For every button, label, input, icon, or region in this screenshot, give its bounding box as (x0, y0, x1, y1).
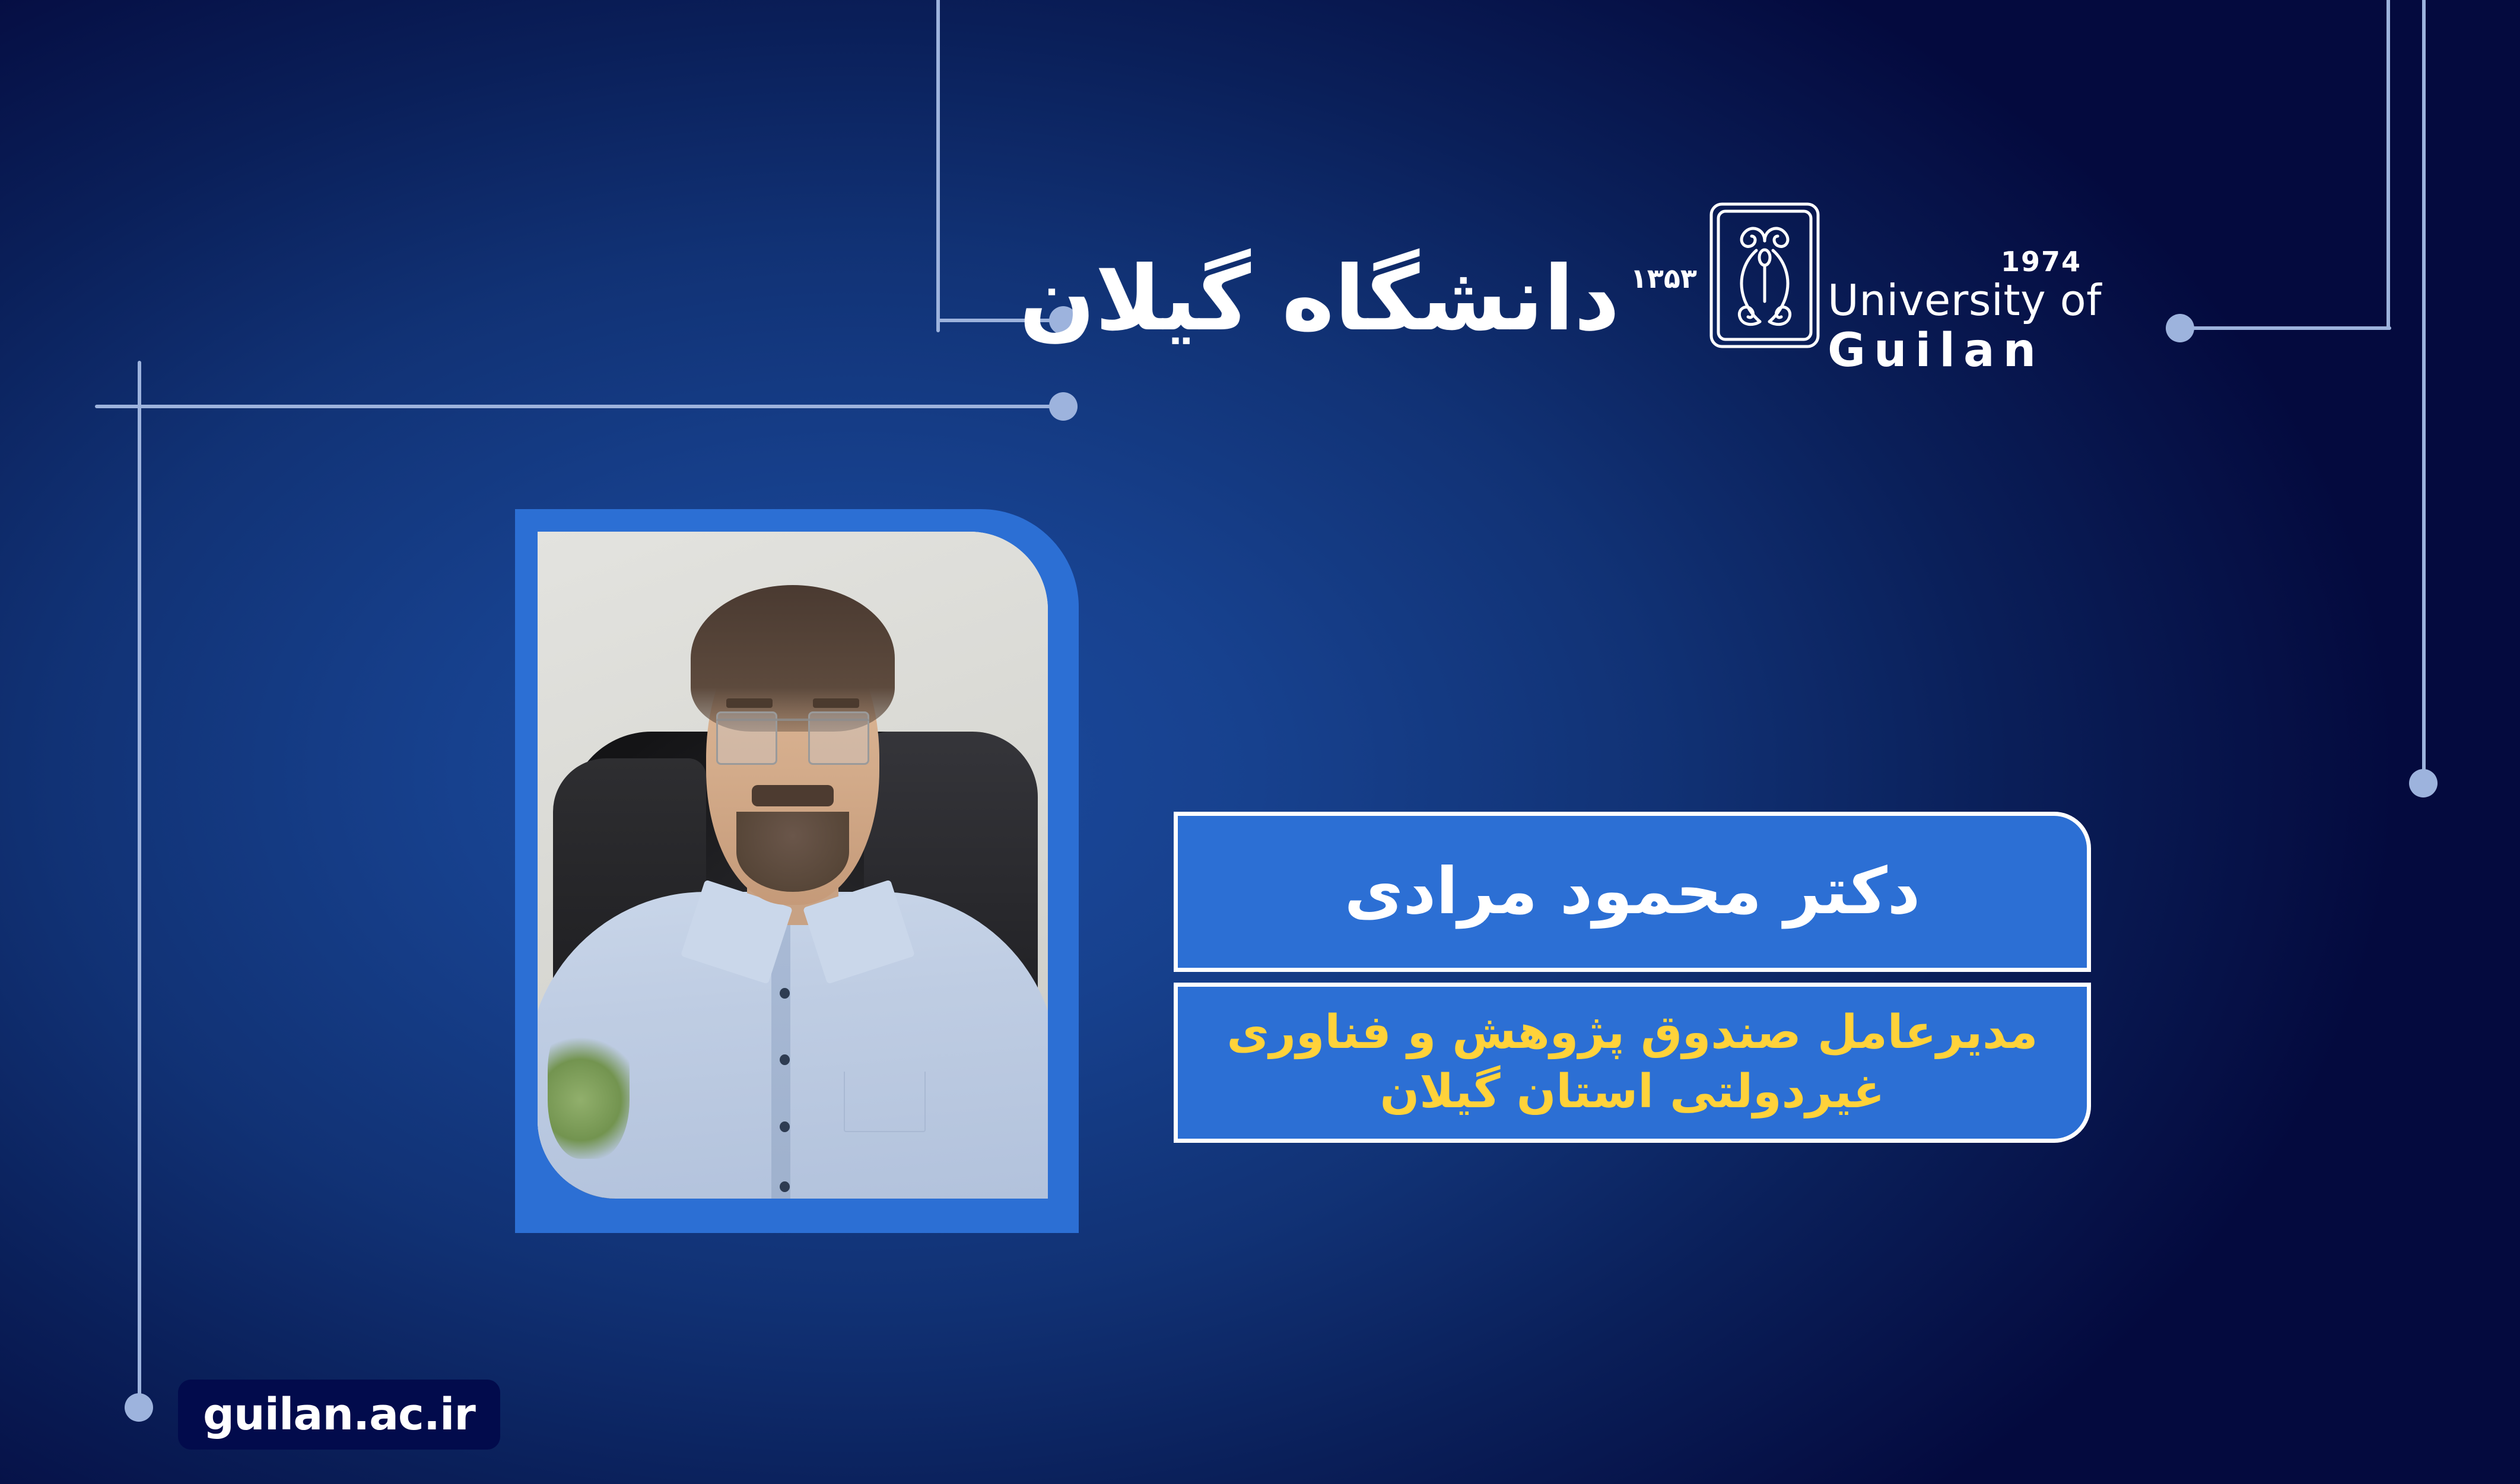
logo-guilan-label: Guilan (1828, 328, 2106, 374)
portrait-image (538, 532, 1048, 1199)
corner-line-top-right-dot (2166, 314, 2194, 342)
corner-line-top-left-vertical (936, 0, 940, 332)
right-vertical-rule (2422, 0, 2426, 780)
logo-english-block: 1974 University of Guilan (1828, 214, 2106, 374)
person-title-line-1: مدیرعامل صندوق پژوهش و فناوری (1227, 1003, 2038, 1063)
portrait-frame (515, 509, 1079, 1233)
announcement-card: 1974 University of Guilan ۱۳۵۳ دانشگاه گ… (0, 0, 2520, 1484)
right-vertical-rule-dot (2409, 769, 2438, 797)
person-name-plate: دکتر محمود مرادی (1174, 812, 2091, 972)
logo-university-of-label: University of (1828, 279, 2106, 322)
guilan-university-emblem-icon (1705, 199, 1824, 351)
website-url-badge[interactable]: guilan.ac.ir (178, 1380, 500, 1450)
website-url-text: guilan.ac.ir (203, 1389, 475, 1440)
logo-gregorian-year: 1974 (2001, 248, 2106, 275)
left-vertical-rule-dot (125, 1393, 153, 1422)
logo-persian-name: دانشگاه گیلان (1019, 255, 1620, 344)
long-horizontal-rule (95, 405, 1073, 408)
person-name: دکتر محمود مرادی (1321, 857, 1944, 927)
portrait-render (538, 532, 1048, 1199)
left-vertical-rule (138, 361, 141, 1406)
corner-line-top-right-vertical (2386, 0, 2390, 328)
person-title-plate: مدیرعامل صندوق پژوهش و فناوری غیردولتی ا… (1174, 983, 2091, 1143)
logo-persian-year: ۱۳۵۳ (1631, 262, 1697, 294)
person-title-line-2: غیردولتی استان گیلان (1227, 1063, 2038, 1122)
corner-line-top-right-horizontal (2174, 326, 2391, 330)
university-logo: 1974 University of Guilan ۱۳۵۳ دانشگاه گ… (1157, 196, 2106, 392)
long-horizontal-rule-dot (1049, 392, 1078, 421)
person-title: مدیرعامل صندوق پژوهش و فناوری غیردولتی ا… (1201, 1003, 2064, 1122)
